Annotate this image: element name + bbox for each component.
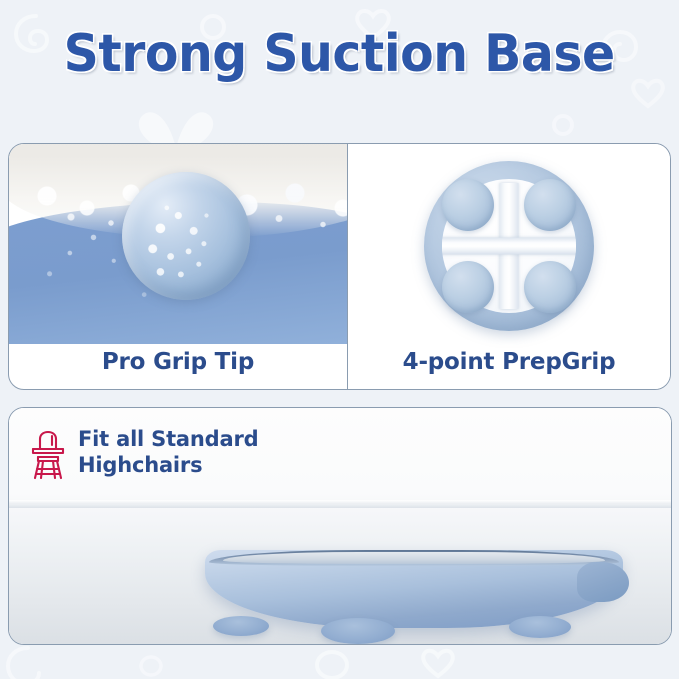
suction-pad: [442, 179, 494, 231]
highchair-feature-label: Fit all Standard Highchairs: [78, 426, 258, 479]
plate-side-lip: [577, 562, 629, 602]
panel-divider: [347, 144, 348, 390]
page-title-text: Strong Suction Base: [64, 24, 615, 84]
cross-channel-horizontal: [442, 238, 576, 255]
pro-grip-tip-photo: [9, 144, 347, 344]
suction-foot: [213, 616, 269, 636]
page-title: Strong Suction Base: [0, 24, 679, 84]
suction-plate: [205, 550, 623, 628]
top-feature-card: Pro Grip Tip 4-point PrepGrip: [8, 143, 671, 390]
watermark-dot: [548, 110, 578, 140]
suction-pad: [524, 179, 576, 231]
highchair-feature-card: Fit all Standard Highchairs: [8, 407, 672, 645]
watermark-heart: [418, 644, 458, 679]
suction-pad: [524, 261, 576, 313]
highchair-feature-row: Fit all Standard Highchairs: [29, 426, 258, 485]
suction-pad: [442, 261, 494, 313]
pro-grip-tip-panel: Pro Grip Tip: [9, 144, 347, 390]
watermark-dot: [310, 646, 354, 679]
watermark-swirl: [0, 640, 52, 679]
watermark-dot: [136, 652, 166, 679]
four-point-prepgrip-caption: 4-point PrepGrip: [348, 349, 670, 375]
infographic-page: Strong Suction Base Pro Grip Tip: [0, 0, 679, 679]
suction-foot: [321, 618, 395, 644]
four-point-prepgrip-photo: [424, 161, 594, 331]
table-edge: [9, 500, 671, 508]
plate-inner-surface: [223, 552, 605, 564]
four-point-prepgrip-panel: 4-point PrepGrip: [348, 144, 670, 390]
grip-dome: [122, 172, 250, 300]
highchair-icon: [29, 430, 67, 485]
suction-foot: [509, 616, 571, 638]
pro-grip-tip-caption: Pro Grip Tip: [9, 349, 347, 375]
